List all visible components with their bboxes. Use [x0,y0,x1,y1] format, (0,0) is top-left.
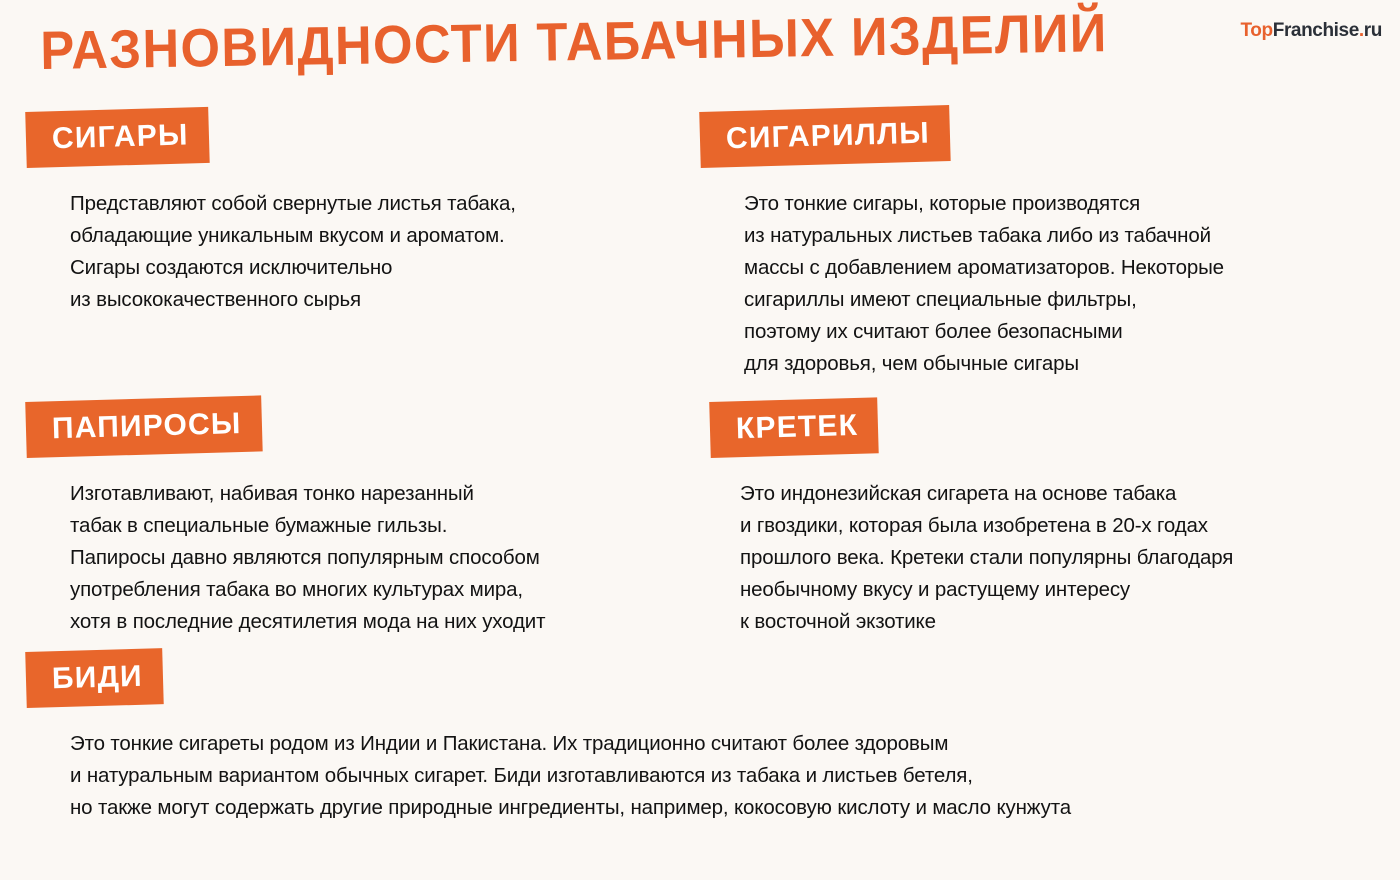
section-bidi: БИДИ Это тонкие сигареты родом из Индии … [26,652,1071,824]
section-badge-bidi: БИДИ [25,648,163,708]
page-title: РАЗНОВИДНОСТИ ТАБАЧНЫХ ИЗДЕЛИЙ [40,6,1108,78]
section-body-bidi: Это тонкие сигареты родом из Индии и Пак… [70,728,1071,824]
section-body-kretek: Это индонезийская сигарета на основе таб… [740,478,1233,638]
section-kretek: КРЕТЕК Это индонезийская сигарета на осн… [710,402,1233,638]
section-badge-papirosy: ПАПИРОСЫ [25,395,262,458]
logo-tld-text: ru [1364,20,1382,41]
section-cigars: СИГАРЫ Представляют собой свернутые лист… [26,112,516,316]
section-badge-kretek: КРЕТЕК [709,397,879,458]
topfranchise-logo[interactable]: TopFranchise.ru [1241,20,1382,42]
section-papirosy: ПАПИРОСЫ Изготавливают, набивая тонко на… [26,402,545,638]
logo-top-text: Top [1241,20,1273,41]
logo-franchise-text: Franchise [1273,20,1359,41]
section-badge-cigarillos: СИГАРИЛЛЫ [699,105,950,168]
section-cigarillos: СИГАРИЛЛЫ Это тонкие сигары, которые про… [700,112,1224,380]
section-body-papirosy: Изготавливают, набивая тонко нарезанный … [70,478,545,638]
section-badge-cigars: СИГАРЫ [25,107,209,168]
section-body-cigars: Представляют собой свернутые листья таба… [70,188,516,316]
section-body-cigarillos: Это тонкие сигары, которые производятся … [744,188,1224,380]
